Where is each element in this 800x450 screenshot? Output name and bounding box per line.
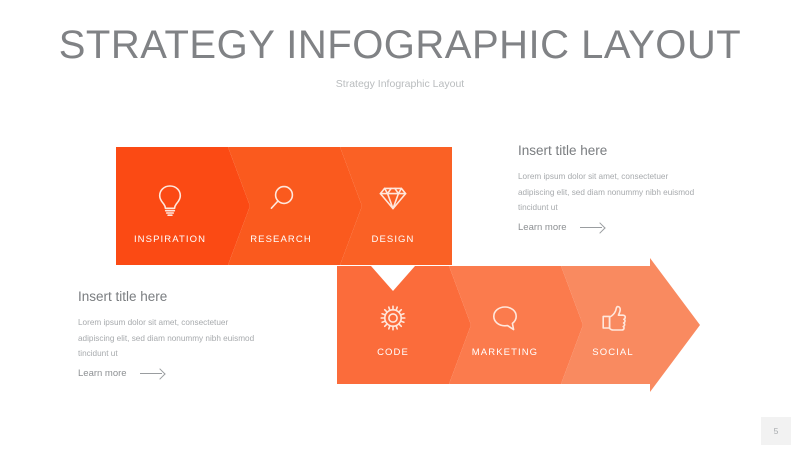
chevron-label: INSPIRATION — [134, 234, 206, 245]
text-block-right: Insert title here Lorem ipsum dolor sit … — [518, 142, 748, 233]
learn-more-label: Learn more — [78, 368, 127, 379]
chevron-shape — [337, 266, 471, 384]
page-number: 5 — [761, 417, 791, 445]
text-block-body-line-2: adipiscing elit, sed diam nonummy nibh e… — [518, 185, 748, 201]
text-block-title: Insert title here — [518, 142, 748, 160]
chevron-label: MARKETING — [472, 347, 538, 358]
text-block-body-line-3: tincidunt ut — [78, 346, 308, 362]
arrow-right-icon — [140, 368, 166, 378]
chevron-label: RESEARCH — [250, 234, 312, 245]
arrow-right-icon — [580, 222, 606, 232]
text-block-body-line-2: adipiscing elit, sed diam nonummy nibh e… — [78, 331, 308, 347]
chevron-segment-code[interactable]: CODE — [337, 266, 471, 384]
text-block-body-line-1: Lorem ipsum dolor sit amet, consectetuer — [78, 315, 308, 331]
text-block-left: Insert title here Lorem ipsum dolor sit … — [78, 288, 308, 379]
text-block-body-line-1: Lorem ipsum dolor sit amet, consectetuer — [518, 169, 748, 185]
chevron-shape — [116, 147, 250, 265]
text-block-body-line-3: tincidunt ut — [518, 200, 748, 216]
chevron-label: SOCIAL — [592, 347, 633, 358]
chevron-segment-inspiration[interactable]: INSPIRATION — [116, 147, 250, 265]
learn-more-link[interactable]: Learn more — [518, 222, 748, 233]
learn-more-link[interactable]: Learn more — [78, 368, 308, 379]
text-block-title: Insert title here — [78, 288, 308, 306]
chevron-label: CODE — [377, 347, 409, 358]
learn-more-label: Learn more — [518, 222, 567, 233]
chevron-label: DESIGN — [371, 234, 414, 245]
page-number-value: 5 — [774, 426, 779, 436]
